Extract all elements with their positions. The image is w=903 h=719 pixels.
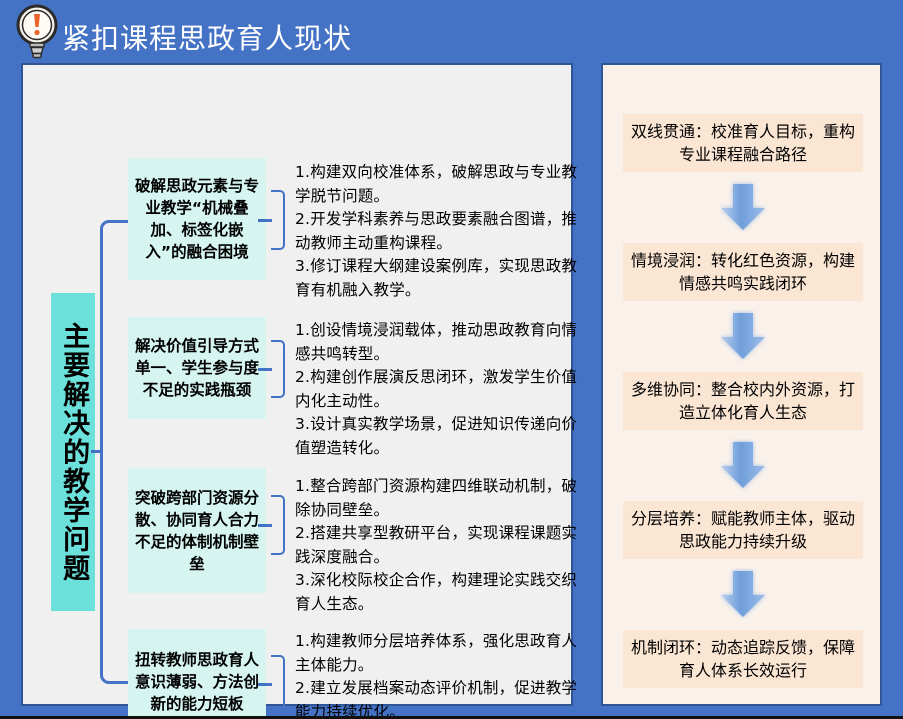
topic-box-4-label: 扭转教师思政育人意识薄弱、方法创新的能力短板 — [132, 649, 262, 715]
page-title: 紧扣课程思政育人现状 — [62, 17, 352, 57]
step-box-5-label: 机制闭环：动态追踪反馈，保障育人体系长效运行 — [629, 636, 857, 682]
lightbulb-icon — [13, 4, 61, 60]
topic-box-1[interactable]: 破解思政元素与专业教学“机械叠加、标签化嵌入”的融合困境 — [128, 158, 266, 280]
detail-item: 2.搭建共享型教研平台，实现课程课题实践深度融合。 — [295, 522, 589, 569]
topic-box-4[interactable]: 扭转教师思政育人意识薄弱、方法创新的能力短板 — [128, 629, 266, 719]
detail-list-3: 1.整合跨部门资源构建四维联动机制，破除协同壁垒。 2.搭建共享型教研平台，实现… — [295, 475, 589, 616]
topic-box-3-label: 突破跨部门资源分散、协同育人合力不足的体制机制壁垒 — [132, 487, 262, 575]
main-bracket-connector — [100, 220, 136, 684]
detail-item: 3.深化校际校企合作，构建理论实践交织育人生态。 — [295, 569, 589, 616]
bracket-connector-3 — [271, 495, 285, 555]
down-arrow-icon-3 — [709, 438, 777, 492]
topic-box-2-label: 解决价值引导方式单一、学生参与度不足的实践瓶颈 — [132, 335, 262, 401]
detail-item: 2.构建创作展演反思闭环，激发学生价值内化主动性。 — [295, 366, 589, 413]
detail-item: 3.修订课程大纲建设案例库，实现思政教育有机融入教学。 — [295, 255, 589, 302]
detail-list-1: 1.构建双向校准体系，破解思政与专业教学脱节问题。 2.开发学科素养与思政要素融… — [295, 161, 589, 302]
topic-box-1-label: 破解思政元素与专业教学“机械叠加、标签化嵌入”的融合困境 — [132, 175, 262, 263]
detail-item: 1.创设情境浸润载体，推动思政教育向情感共鸣转型。 — [295, 319, 589, 366]
bracket-connector-2 — [271, 340, 285, 398]
detail-item: 1.整合跨部门资源构建四维联动机制，破除协同壁垒。 — [295, 475, 589, 522]
step-box-1-label: 双线贯通：校准育人目标，重构专业课程融合路径 — [629, 120, 857, 166]
step-box-2[interactable]: 情境浸润：转化红色资源，构建情感共鸣实践闭环 — [623, 243, 863, 301]
step-box-3-label: 多维协同：整合校内外资源，打造立体化育人生态 — [629, 378, 857, 424]
down-arrow-icon-1 — [709, 180, 777, 234]
vertical-title-label: 主要解决的教学问题 — [59, 322, 87, 583]
topic-box-2[interactable]: 解决价值引导方式单一、学生参与度不足的实践瓶颈 — [128, 317, 266, 419]
step-box-3[interactable]: 多维协同：整合校内外资源，打造立体化育人生态 — [623, 372, 863, 430]
detail-item: 3.设计真实教学场景，促进知识传递向价值塑造转化。 — [295, 413, 589, 460]
step-box-5[interactable]: 机制闭环：动态追踪反馈，保障育人体系长效运行 — [623, 630, 863, 688]
right-panel: 双线贯通：校准育人目标，重构专业课程融合路径 情境浸 — [601, 63, 882, 706]
detail-item: 1.构建双向校准体系，破解思政与专业教学脱节问题。 — [295, 161, 589, 208]
step-box-4[interactable]: 分层培养：赋能教师主体，驱动思政能力持续升级 — [623, 501, 863, 559]
step-box-1[interactable]: 双线贯通：校准育人目标，重构专业课程融合路径 — [623, 114, 863, 172]
topic-box-3[interactable]: 突破跨部门资源分散、协同育人合力不足的体制机制壁垒 — [128, 468, 266, 593]
main-bracket-stub — [91, 450, 103, 453]
down-arrow-icon-4 — [709, 567, 777, 621]
detail-item: 2.建立发展档案动态评价机制，促进教学能力持续优化。 — [295, 677, 589, 719]
detail-list-4: 1.构建教师分层培养体系，强化思政育人主体能力。 2.建立发展档案动态评价机制，… — [295, 630, 589, 719]
detail-item: 1.构建教师分层培养体系，强化思政育人主体能力。 — [295, 630, 589, 677]
step-box-2-label: 情境浸润：转化红色资源，构建情感共鸣实践闭环 — [629, 249, 857, 295]
down-arrow-icon-2 — [709, 309, 777, 363]
bracket-connector-1 — [271, 190, 285, 250]
step-box-4-label: 分层培养：赋能教师主体，驱动思政能力持续升级 — [629, 507, 857, 553]
slide-canvas: 紧扣课程思政育人现状 主要解决的教学问题 破解思政元素与专业教学“机械叠加、标签… — [0, 0, 903, 719]
detail-list-2: 1.创设情境浸润载体，推动思政教育向情感共鸣转型。 2.构建创作展演反思闭环，激… — [295, 319, 589, 460]
left-panel: 主要解决的教学问题 破解思政元素与专业教学“机械叠加、标签化嵌入”的融合困境 解… — [21, 63, 573, 706]
vertical-title-block: 主要解决的教学问题 — [51, 293, 95, 611]
header-bar: 紧扣课程思政育人现状 — [0, 0, 903, 62]
detail-item: 2.开发学科素养与思政要素融合图谱，推动教师主动重构课程。 — [295, 208, 589, 255]
bracket-connector-4 — [271, 655, 285, 713]
